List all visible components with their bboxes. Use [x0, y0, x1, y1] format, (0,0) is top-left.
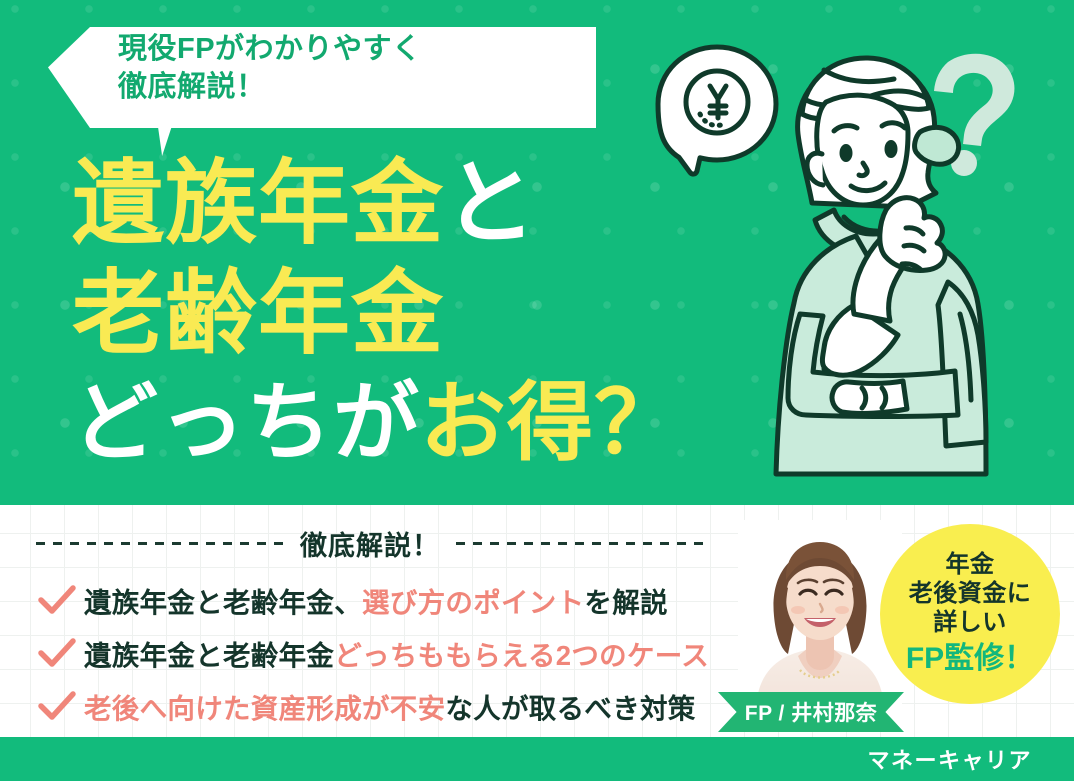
check-icon	[36, 636, 78, 670]
page-title: 遺族年金と 老齢年金 どっちがお得？	[72, 158, 692, 466]
badge-line-2: 老後資金に	[909, 580, 1032, 609]
fp-supervision-badge: 年金 老後資金に 詳しい FP監修！	[880, 524, 1060, 704]
footer-bar: マネーキャリア	[0, 737, 1074, 781]
list-item-plain-b: を解説	[584, 587, 667, 618]
check-icon	[36, 583, 78, 617]
list-item: 老後へ向けた資産形成が不安な人が取るべき対策	[36, 679, 736, 732]
brand-logo-label: マネーキャリア	[867, 743, 1032, 775]
dashed-rule-right	[456, 542, 704, 545]
list-item-text: 遺族年金と老齢年金、選び方のポイントを解説	[84, 580, 668, 620]
thinking-woman-illustration	[648, 14, 1074, 505]
panel-header: 徹底解説！	[0, 527, 740, 559]
panel-header-label: 徹底解説！	[300, 524, 440, 563]
speech-bubble-tail-icon	[158, 126, 204, 156]
expert-name-label: FP / 井村那奈	[745, 697, 877, 727]
badge-emphasis-label: FP監修！	[906, 641, 1034, 677]
list-item-plain-a: 遺族年金と老齢年金、	[84, 587, 362, 618]
list-item-highlight: 選び方のポイント	[362, 587, 584, 618]
dashed-rule-left	[36, 542, 284, 545]
list-item-highlight: 老後へ向けた資産形成が不安	[84, 693, 445, 724]
list-item-plain-b: な人が取るべき対策	[445, 693, 695, 724]
hero-section: 現役FPがわかりやすく 徹底解説！ 遺族年金と 老齢年金 どっちがお得？	[0, 0, 1074, 505]
badge-line-1: 年金	[946, 551, 995, 580]
title-line3-white: どっちが	[72, 375, 420, 471]
list-item-text: 老後へ向けた資産形成が不安な人が取るべき対策	[84, 686, 696, 726]
list-item: 遺族年金と老齢年金どっちももらえる2つのケース	[36, 626, 736, 679]
speech-bubble-label: 現役FPがわかりやすく 徹底解説！	[118, 30, 548, 107]
yen-speech-bubble-icon	[658, 47, 776, 174]
check-icon	[36, 689, 78, 723]
badge-line-3: 詳しい	[933, 609, 1007, 638]
list-item-plain-a: 遺族年金と老齢年金	[84, 640, 334, 671]
title-line2-yellow: 老齢年金	[72, 263, 444, 365]
title-line3-yellow: お得？	[420, 375, 681, 471]
bullet-list: 遺族年金と老齢年金、選び方のポイントを解説 遺族年金と老齢年金どっちももらえる2…	[36, 573, 736, 732]
infographic-canvas: 現役FPがわかりやすく 徹底解説！ 遺族年金と 老齢年金 どっちがお得？	[0, 0, 1074, 781]
expert-portrait-photo	[738, 520, 902, 708]
list-item-highlight: どっちももらえる2つのケース	[334, 640, 709, 671]
list-item: 遺族年金と老齢年金、選び方のポイントを解説	[36, 573, 736, 626]
list-item-text: 遺族年金と老齢年金どっちももらえる2つのケース	[84, 633, 709, 673]
expert-name-ribbon: FP / 井村那奈	[718, 692, 904, 732]
title-line1-yellow: 遺族年金	[72, 153, 444, 255]
title-line1-white: と	[444, 153, 537, 255]
